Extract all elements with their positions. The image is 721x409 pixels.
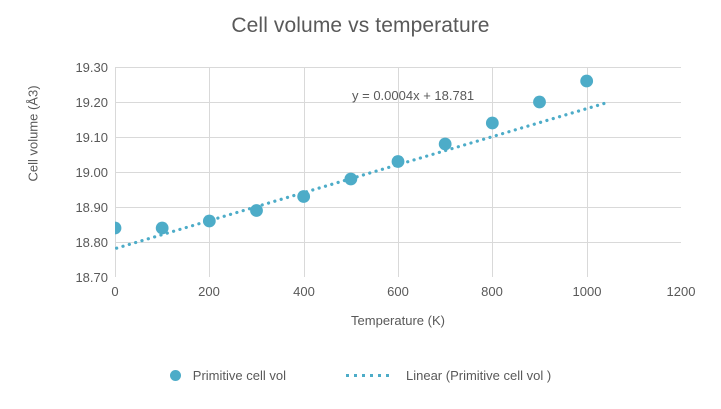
x-tick-label: 800: [462, 284, 522, 299]
data-point[interactable]: [156, 222, 169, 235]
x-tick-label: 400: [274, 284, 334, 299]
x-tick-label: 0: [85, 284, 145, 299]
x-tick-label: 1200: [651, 284, 711, 299]
x-tick-label: 600: [368, 284, 428, 299]
trendline-path: [115, 103, 606, 250]
x-tick-label: 200: [179, 284, 239, 299]
data-point[interactable]: [439, 138, 452, 151]
data-point[interactable]: [250, 204, 263, 217]
trendline-equation-label: y = 0.0004x + 18.781: [352, 88, 474, 103]
legend-label: Linear (Primitive cell vol ): [406, 368, 551, 383]
data-point[interactable]: [115, 222, 121, 235]
data-point[interactable]: [297, 190, 310, 203]
data-point[interactable]: [486, 117, 499, 130]
chart-container: Cell volume vs temperature Cell volume (…: [0, 0, 721, 409]
legend-label: Primitive cell vol: [193, 368, 286, 383]
trendline: [115, 103, 606, 250]
legend-entry-series[interactable]: Primitive cell vol: [170, 368, 286, 383]
legend-entry-trendline[interactable]: Linear (Primitive cell vol ): [346, 368, 551, 383]
circle-marker-icon: [170, 370, 181, 381]
data-point[interactable]: [203, 215, 216, 228]
dotted-line-icon: [346, 374, 394, 377]
data-point[interactable]: [580, 75, 593, 88]
chart-legend: Primitive cell vol Linear (Primitive cel…: [0, 368, 721, 383]
data-point[interactable]: [344, 173, 357, 186]
data-point[interactable]: [533, 96, 546, 109]
x-tick-label: 1000: [557, 284, 617, 299]
data-point[interactable]: [392, 155, 405, 168]
